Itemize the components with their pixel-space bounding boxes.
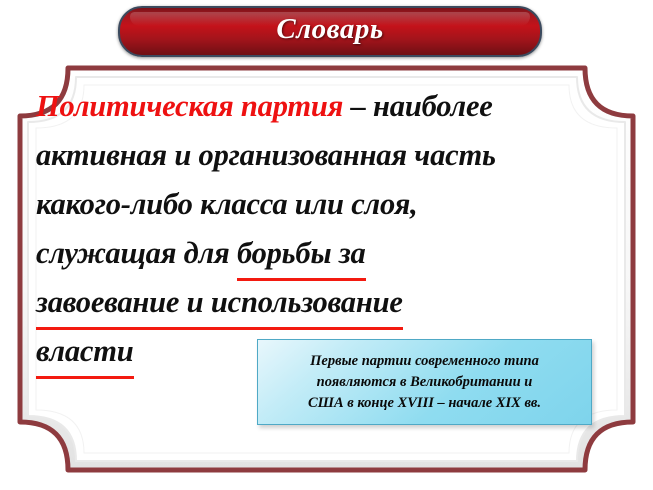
definition-block: Политическая партия – наиболее активная … <box>36 82 624 376</box>
definition-line: активная и организованная часть <box>36 131 624 180</box>
fact-callout-line: появляются в Великобритании и <box>317 374 533 390</box>
fact-callout-text: Первые партии современного типа появляют… <box>298 351 551 414</box>
definition-text: служащая для <box>36 236 237 270</box>
fact-callout-line: Первые партии современного типа <box>310 353 539 369</box>
definition-term: Политическая партия <box>36 89 343 123</box>
definition-line: завоевание и использование <box>36 278 624 327</box>
definition-text: какого-либо класса или слоя, <box>36 187 418 221</box>
definition-text-underlined: борьбы за <box>237 229 366 278</box>
definition-text-underlined: завоевание и использование <box>36 278 403 327</box>
slide-title: Словарь <box>120 8 540 51</box>
slide-root: Словарь Политическая партия – наиболее а… <box>0 0 653 490</box>
definition-line: Политическая партия – наиболее <box>36 82 624 131</box>
fact-callout-box: Первые партии современного типа появляют… <box>257 339 592 425</box>
definition-text: – наиболее <box>343 89 492 123</box>
title-banner: Словарь <box>118 6 542 57</box>
content-area: Политическая партия – наиболее активная … <box>30 76 625 464</box>
fact-callout-line: США в конце XVIII – начале XIX вв. <box>308 395 541 411</box>
definition-line: какого-либо класса или слоя, <box>36 180 624 229</box>
definition-text: активная и организованная часть <box>36 138 496 172</box>
definition-line: служащая для борьбы за <box>36 229 624 278</box>
definition-text-underlined: власти <box>36 327 134 376</box>
